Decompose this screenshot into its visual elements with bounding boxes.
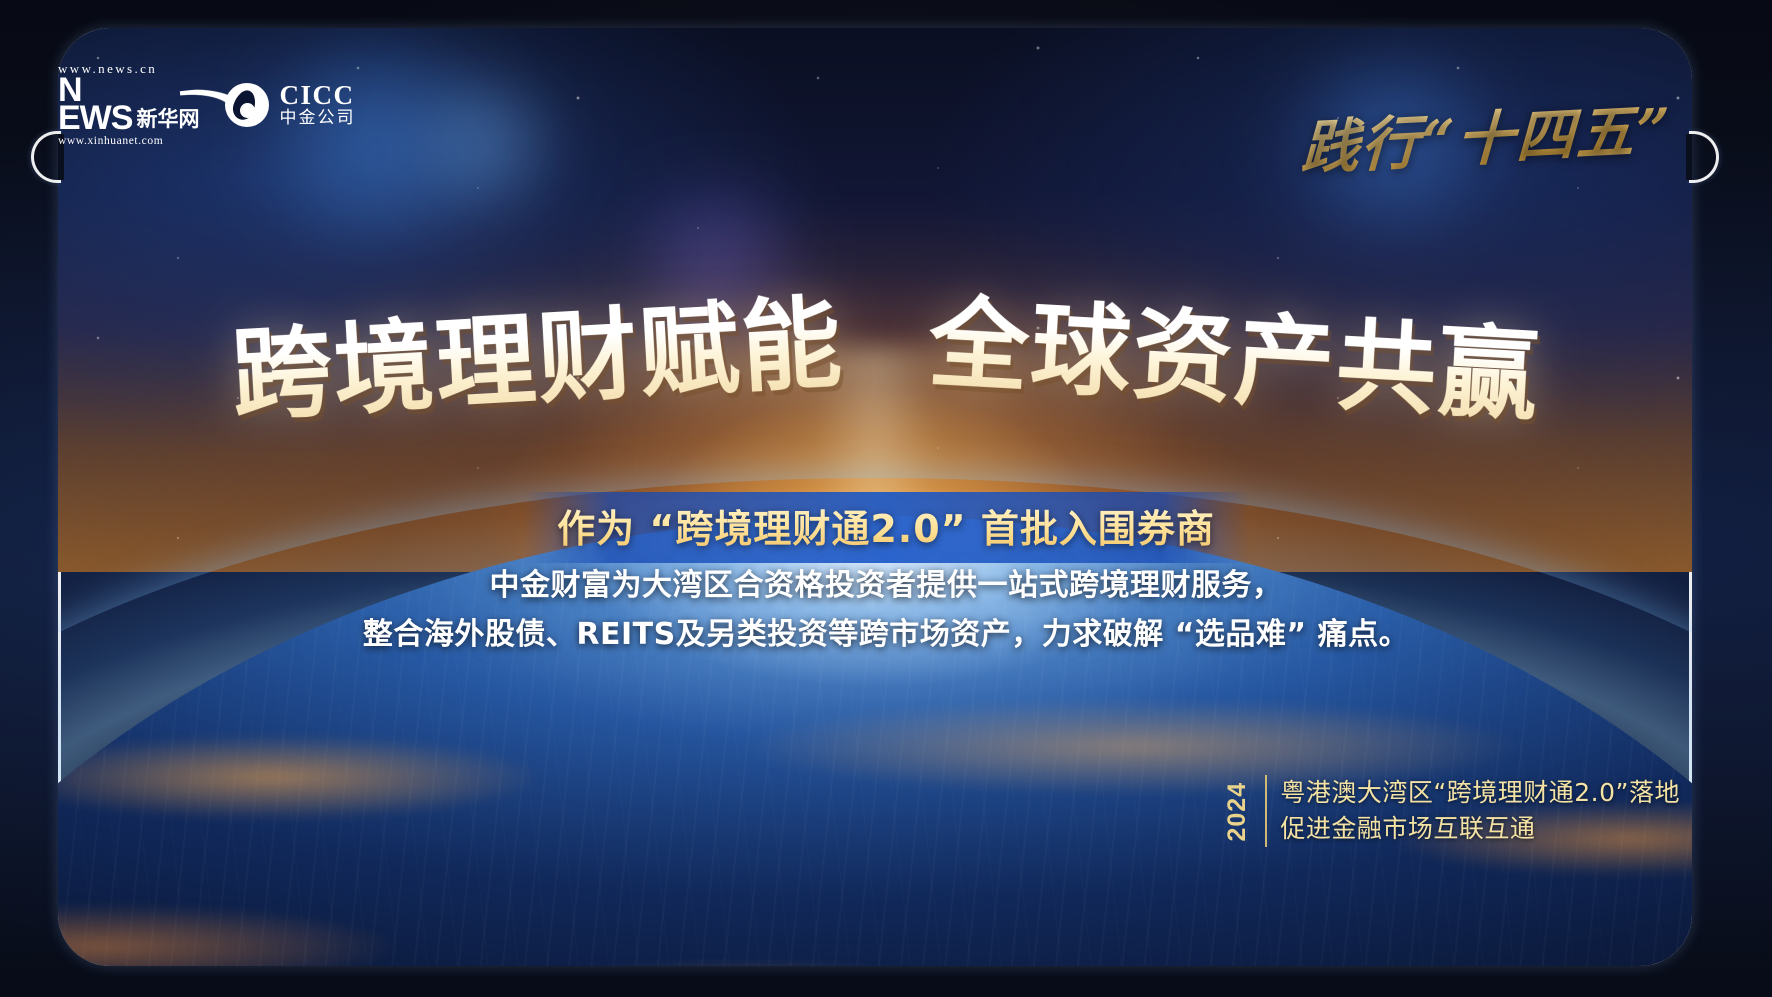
- headline-right: 全球资产共赢: [925, 261, 1544, 440]
- bottom-caption: 2024 粤港澳大湾区“跨境理财通2.0”落地 促进金融市场互联互通: [1223, 775, 1680, 848]
- caption-line: 促进金融市场互联互通: [1280, 811, 1680, 847]
- cicc-swirl-icon: [225, 83, 269, 127]
- frame-notch-right-mask: [1686, 134, 1692, 180]
- body-line: 中金财富为大湾区合资格投资者提供一站式跨境理财服务，: [0, 562, 1772, 611]
- caption-divider: [1265, 775, 1267, 848]
- xinhua-net-logo[interactable]: www.news.cn N EWS 新华网 www.xinhuanet.com: [58, 62, 199, 147]
- subtitle-band: 作为 “跨境理财通2.0” 首批入围券商: [523, 492, 1249, 563]
- caption-year: 2024: [1223, 775, 1252, 848]
- xinhua-news-mark: N EWS: [58, 77, 132, 133]
- poster-root: www.news.cn N EWS 新华网 www.xinhuanet.com …: [0, 0, 1772, 997]
- subtitle-text: 作为 “跨境理财通2.0” 首批入围券商: [557, 498, 1215, 553]
- caption-line: 粤港澳大湾区“跨境理财通2.0”落地: [1280, 775, 1680, 811]
- cicc-wordmark: CICC 中金公司: [279, 82, 355, 127]
- headline-left: 跨境理财赋能: [227, 261, 846, 440]
- caption-lines: 粤港澳大湾区“跨境理财通2.0”落地 促进金融市场互联互通: [1280, 775, 1680, 848]
- cicc-zh-name: 中金公司: [279, 110, 355, 127]
- xinhua-wordmark: N EWS 新华网: [58, 77, 199, 133]
- body-copy: 中金财富为大湾区合资格投资者提供一站式跨境理财服务， 整合海外股债、REITS及…: [0, 562, 1772, 659]
- cicc-en-name: CICC: [279, 82, 355, 110]
- xinhua-url-bottom: www.xinhuanet.com: [58, 136, 199, 148]
- body-line: 整合海外股债、REITS及另类投资等跨市场资产，力求破解 “选品难” 痛点。: [0, 611, 1772, 660]
- xinhua-mark-ews: EWS: [58, 105, 132, 133]
- main-headline: 跨境理财赋能 全球资产共赢: [0, 278, 1772, 423]
- cicc-logo[interactable]: CICC 中金公司: [225, 82, 355, 127]
- logo-row: www.news.cn N EWS 新华网 www.xinhuanet.com …: [58, 62, 355, 147]
